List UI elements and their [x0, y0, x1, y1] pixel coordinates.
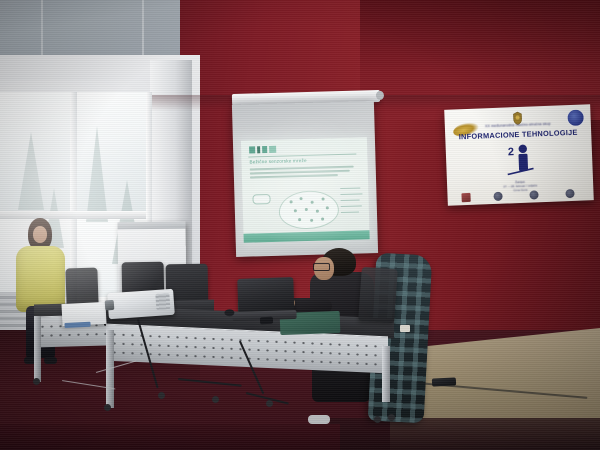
presenter-shoe [44, 357, 57, 364]
paper-stack [61, 302, 106, 326]
pine-tree-icon [86, 126, 108, 222]
table-caster [158, 392, 165, 399]
conference-chair[interactable] [358, 267, 398, 323]
poster-footer-line: Crna Gora [513, 187, 527, 192]
presenter-yellow-jacket [16, 246, 65, 312]
projector-vent [155, 293, 170, 310]
chair-base [374, 408, 396, 424]
svg-text:2: 2 [508, 146, 515, 158]
table-leg [34, 316, 41, 382]
projector-lens-icon [105, 300, 115, 311]
table-caster [33, 378, 40, 385]
conference-chair[interactable] [65, 267, 98, 306]
sponsor-logo-icon [461, 193, 470, 202]
table-caster [104, 404, 111, 411]
presentation-room-photo: Bežične senzorske mreže [0, 0, 600, 450]
presenter-face [33, 226, 47, 243]
table-caster [266, 400, 273, 407]
conference-logo-icon: 2 [505, 142, 536, 177]
eyeglasses-icon [313, 263, 330, 271]
wall-outlet [400, 325, 410, 332]
laptop-screen[interactable] [237, 277, 294, 314]
projection-screen[interactable]: Bežične senzorske mreže [232, 101, 378, 257]
table-leg [382, 346, 390, 402]
sponsor-logo-icon [565, 189, 574, 198]
table-caster [212, 396, 219, 403]
sponsor-logo-icon [529, 190, 538, 199]
screen-glow [232, 101, 378, 257]
flipchart-top-bar [117, 222, 185, 230]
carpet-foreground [0, 424, 340, 450]
sponsor-logo-icon [493, 192, 502, 201]
mobile-phone[interactable] [260, 317, 273, 325]
attendee-shoe [308, 415, 330, 424]
pine-tree-icon [18, 132, 44, 210]
projector[interactable] [107, 289, 175, 320]
conference-poster: XX međunarodna naučno-stručna skup INFOR… [444, 104, 594, 206]
